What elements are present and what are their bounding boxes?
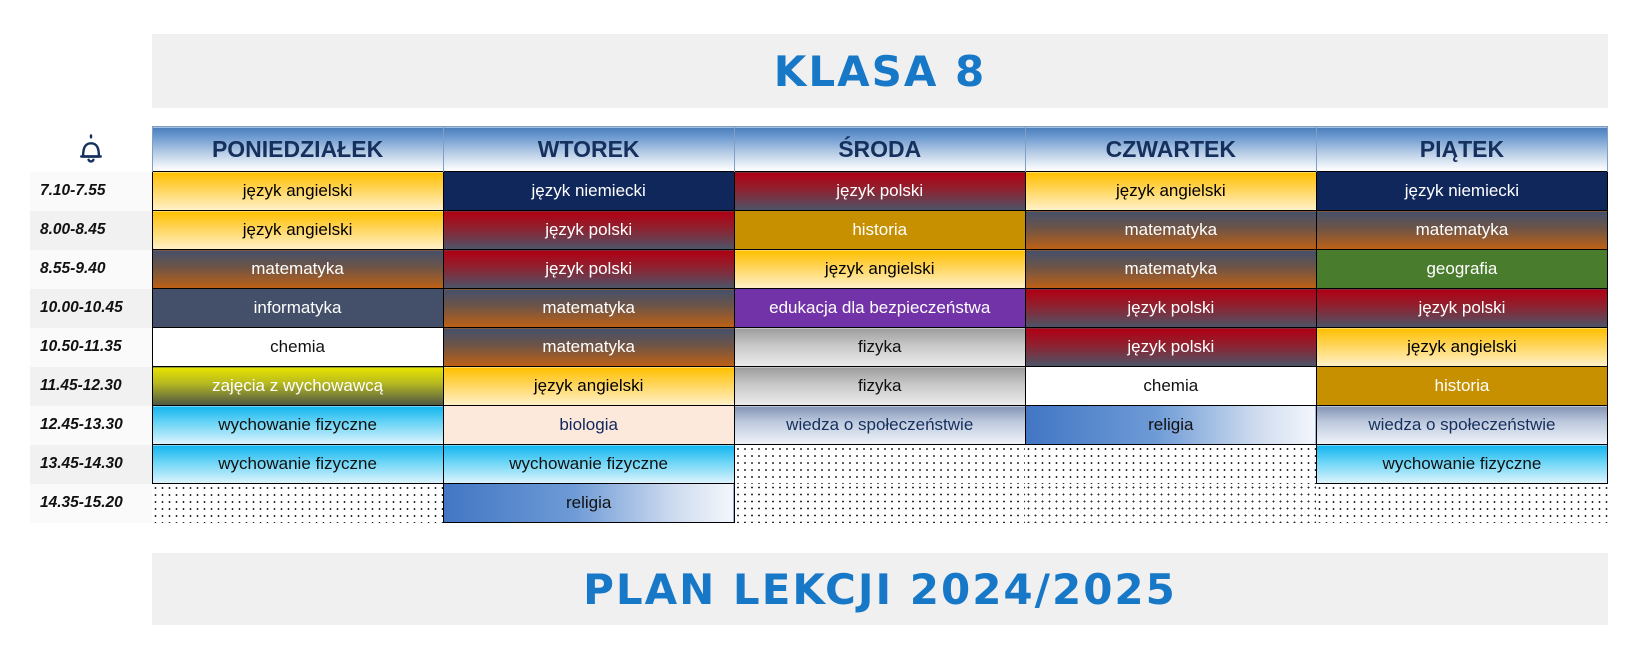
time-slot-label: 8.00-8.45 [30,211,152,250]
lesson-cell-friday[interactable]: matematyka [1316,211,1607,250]
timetable-row: 14.35-15.20religia [30,484,1608,523]
lesson-cell-empty-wednesday [734,445,1025,484]
lesson-cell-friday[interactable]: historia [1316,367,1607,406]
bell-icon [30,127,152,171]
lesson-cell-wednesday[interactable]: edukacja dla bezpieczeństwa [734,289,1025,328]
day-header-wednesday: ŚRODA [734,127,1025,172]
timetable-header: PONIEDZIAŁEK WTOREK ŚRODA CZWARTEK PIĄTE… [30,127,1608,172]
timetable-row: 7.10-7.55język angielskijęzyk niemieckij… [30,172,1608,211]
day-header-friday: PIĄTEK [1316,127,1607,172]
lesson-cell-tuesday[interactable]: język polski [443,211,734,250]
lesson-cell-tuesday[interactable]: wychowanie fizyczne [443,445,734,484]
lesson-cell-monday[interactable]: język angielski [152,211,443,250]
lesson-cell-friday[interactable]: język angielski [1316,328,1607,367]
lesson-cell-thursday[interactable]: chemia [1025,367,1316,406]
lesson-cell-thursday[interactable]: matematyka [1025,250,1316,289]
top-banner: KLASA 8 [152,34,1608,108]
lesson-cell-monday[interactable]: zajęcia z wychowawcą [152,367,443,406]
timetable: PONIEDZIAŁEK WTOREK ŚRODA CZWARTEK PIĄTE… [30,126,1608,523]
timetable-row: 8.00-8.45język angielskijęzyk polskihist… [30,211,1608,250]
timetable-row: 10.50-11.35chemiamatematykafizykajęzyk p… [30,328,1608,367]
lesson-cell-empty-wednesday [734,484,1025,523]
lesson-cell-monday[interactable]: wychowanie fizyczne [152,445,443,484]
time-slot-label: 14.35-15.20 [30,484,152,523]
lesson-cell-monday[interactable]: informatyka [152,289,443,328]
time-slot-label: 10.00-10.45 [30,289,152,328]
lesson-cell-monday[interactable]: chemia [152,328,443,367]
day-header-thursday: CZWARTEK [1025,127,1316,172]
lesson-cell-wednesday[interactable]: fizyka [734,367,1025,406]
lesson-cell-wednesday[interactable]: język angielski [734,250,1025,289]
timetable-row: 8.55-9.40matematykajęzyk polskijęzyk ang… [30,250,1608,289]
bottom-banner: PLAN LEKCJI 2024/2025 [152,553,1608,625]
lesson-cell-tuesday[interactable]: język polski [443,250,734,289]
lesson-cell-thursday[interactable]: język angielski [1025,172,1316,211]
lesson-cell-wednesday[interactable]: fizyka [734,328,1025,367]
lesson-cell-thursday[interactable]: język polski [1025,289,1316,328]
timetable-body: 7.10-7.55język angielskijęzyk niemieckij… [30,172,1608,523]
lesson-cell-monday[interactable]: język angielski [152,172,443,211]
time-slot-label: 8.55-9.40 [30,250,152,289]
lesson-cell-wednesday[interactable]: historia [734,211,1025,250]
lesson-cell-wednesday[interactable]: język polski [734,172,1025,211]
time-slot-label: 13.45-14.30 [30,445,152,484]
day-header-tuesday: WTOREK [443,127,734,172]
lesson-cell-tuesday[interactable]: religia [443,484,734,523]
page-title: KLASA 8 [774,47,986,96]
lesson-cell-tuesday[interactable]: język angielski [443,367,734,406]
lesson-cell-monday[interactable]: wychowanie fizyczne [152,406,443,445]
lesson-cell-empty-thursday [1025,445,1316,484]
lesson-cell-tuesday[interactable]: matematyka [443,289,734,328]
timetable-row: 10.00-10.45informatykamatematykaedukacja… [30,289,1608,328]
day-header-row: PONIEDZIAŁEK WTOREK ŚRODA CZWARTEK PIĄTE… [30,127,1608,172]
lesson-cell-thursday[interactable]: religia [1025,406,1316,445]
lesson-cell-thursday[interactable]: matematyka [1025,211,1316,250]
lesson-cell-thursday[interactable]: język polski [1025,328,1316,367]
time-column-header [30,127,152,172]
lesson-cell-wednesday[interactable]: wiedza o społeczeństwie [734,406,1025,445]
time-slot-label: 11.45-12.30 [30,367,152,406]
timetable-row: 13.45-14.30wychowanie fizycznewychowanie… [30,445,1608,484]
lesson-cell-friday[interactable]: język niemiecki [1316,172,1607,211]
lesson-cell-friday[interactable]: wiedza o społeczeństwie [1316,406,1607,445]
lesson-cell-tuesday[interactable]: matematyka [443,328,734,367]
time-slot-label: 12.45-13.30 [30,406,152,445]
lesson-cell-friday[interactable]: geografia [1316,250,1607,289]
lesson-cell-empty-thursday [1025,484,1316,523]
timetable-row: 12.45-13.30wychowanie fizycznebiologiawi… [30,406,1608,445]
lesson-cell-empty-friday [1316,484,1607,523]
lesson-cell-tuesday[interactable]: biologia [443,406,734,445]
lesson-cell-tuesday[interactable]: język niemiecki [443,172,734,211]
time-slot-label: 10.50-11.35 [30,328,152,367]
day-header-monday: PONIEDZIAŁEK [152,127,443,172]
lesson-cell-monday[interactable]: matematyka [152,250,443,289]
lesson-cell-friday[interactable]: wychowanie fizyczne [1316,445,1607,484]
time-slot-label: 7.10-7.55 [30,172,152,211]
footer-title: PLAN LEKCJI 2024/2025 [583,565,1177,614]
lesson-cell-friday[interactable]: język polski [1316,289,1607,328]
lesson-cell-empty-monday [152,484,443,523]
timetable-row: 11.45-12.30zajęcia z wychowawcąjęzyk ang… [30,367,1608,406]
